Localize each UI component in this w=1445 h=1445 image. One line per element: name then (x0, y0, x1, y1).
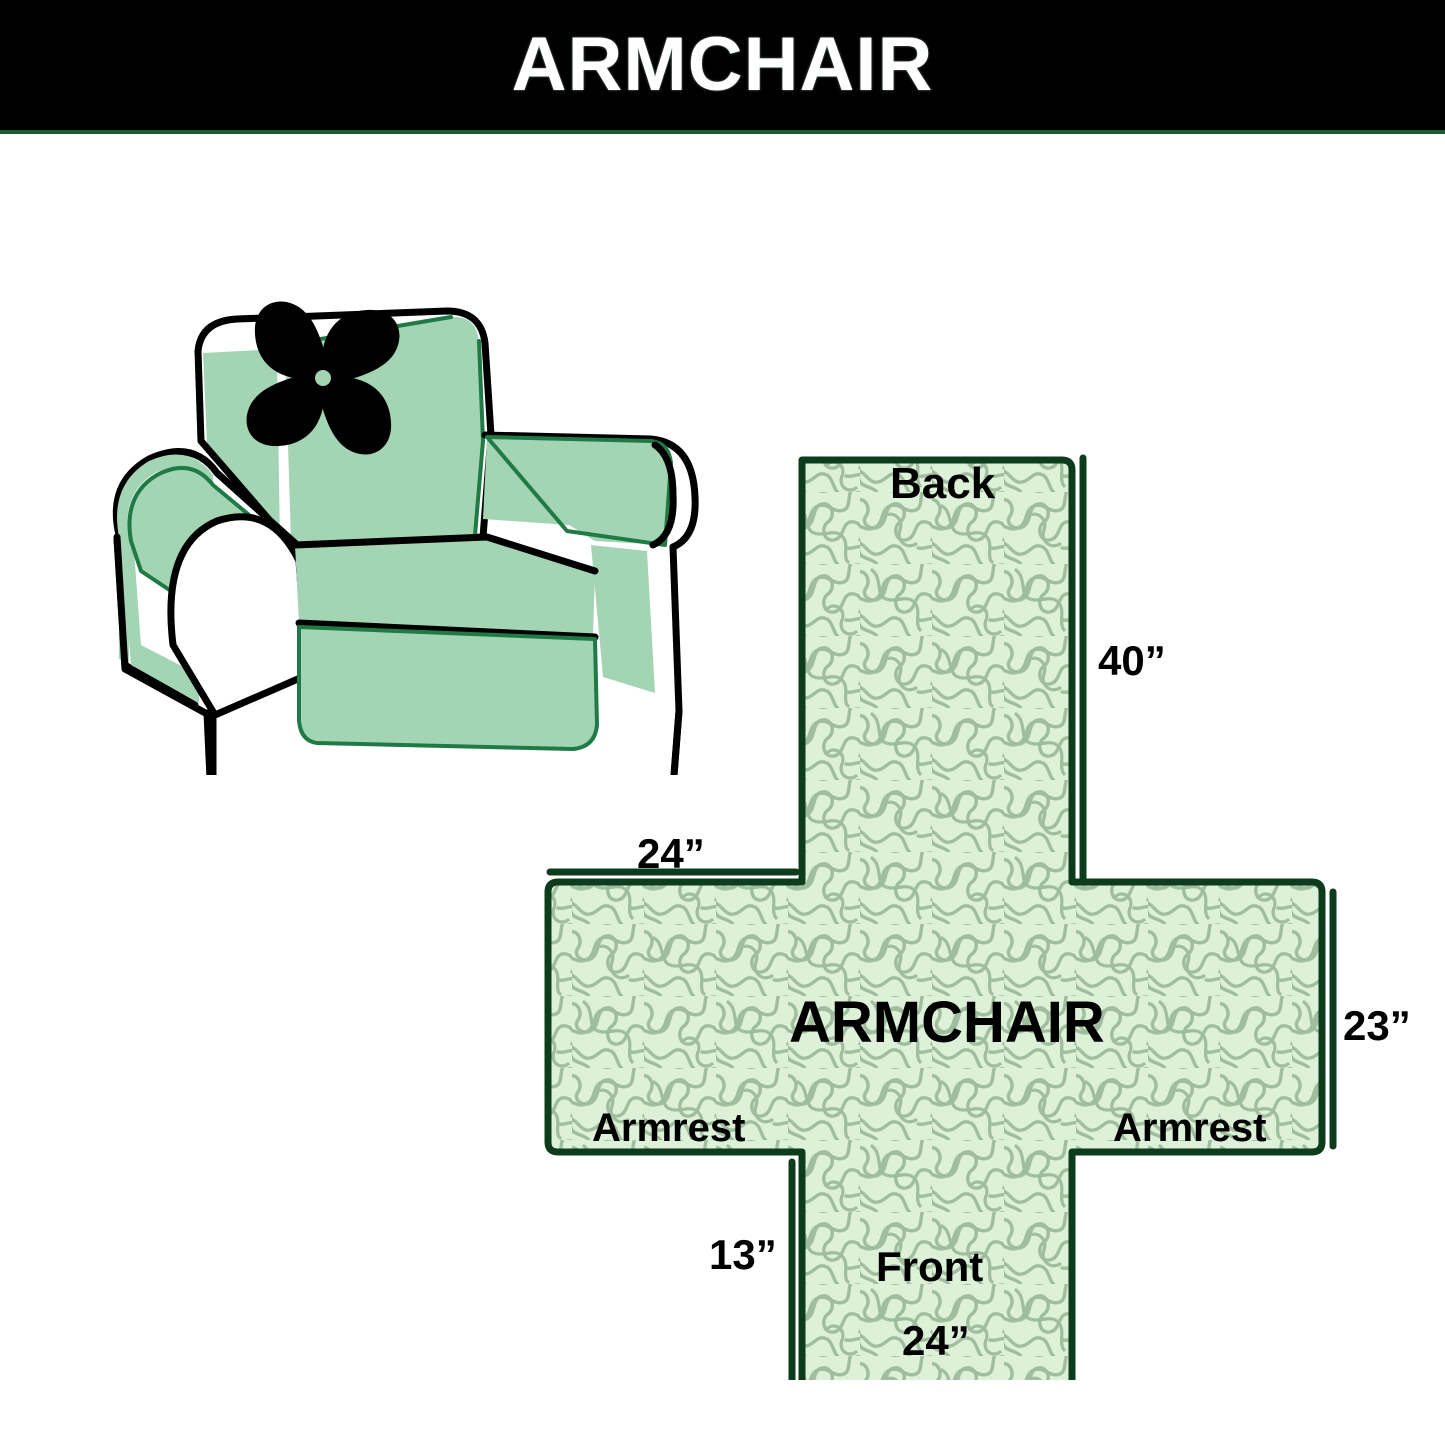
page-title: ARMCHAIR (512, 27, 934, 103)
pattern-label-armrest-left: Armrest (592, 1108, 745, 1148)
dimension-label-front-width: 24” (902, 1320, 970, 1362)
dimension-label-back-width: 24” (637, 833, 705, 875)
dimension-label-front-drop: 13” (709, 1234, 777, 1276)
cross-pattern-shape (548, 460, 1322, 1380)
dimension-label-seat-depth: 23” (1343, 1005, 1411, 1047)
pattern-label-armchair: ARMCHAIR (789, 994, 1105, 1052)
header-divider (0, 130, 1445, 134)
header-bar: ARMCHAIR (0, 0, 1445, 130)
pattern-label-armrest-right: Armrest (1113, 1108, 1266, 1148)
pattern-label-back: Back (890, 462, 995, 506)
pattern-label-front: Front (876, 1246, 983, 1288)
dimension-label-back-height: 40” (1098, 640, 1166, 682)
slipcover-pattern-diagram (500, 420, 1445, 1380)
armchair-slipcover-size-diagram: ARMCHAIR (0, 0, 1445, 1445)
